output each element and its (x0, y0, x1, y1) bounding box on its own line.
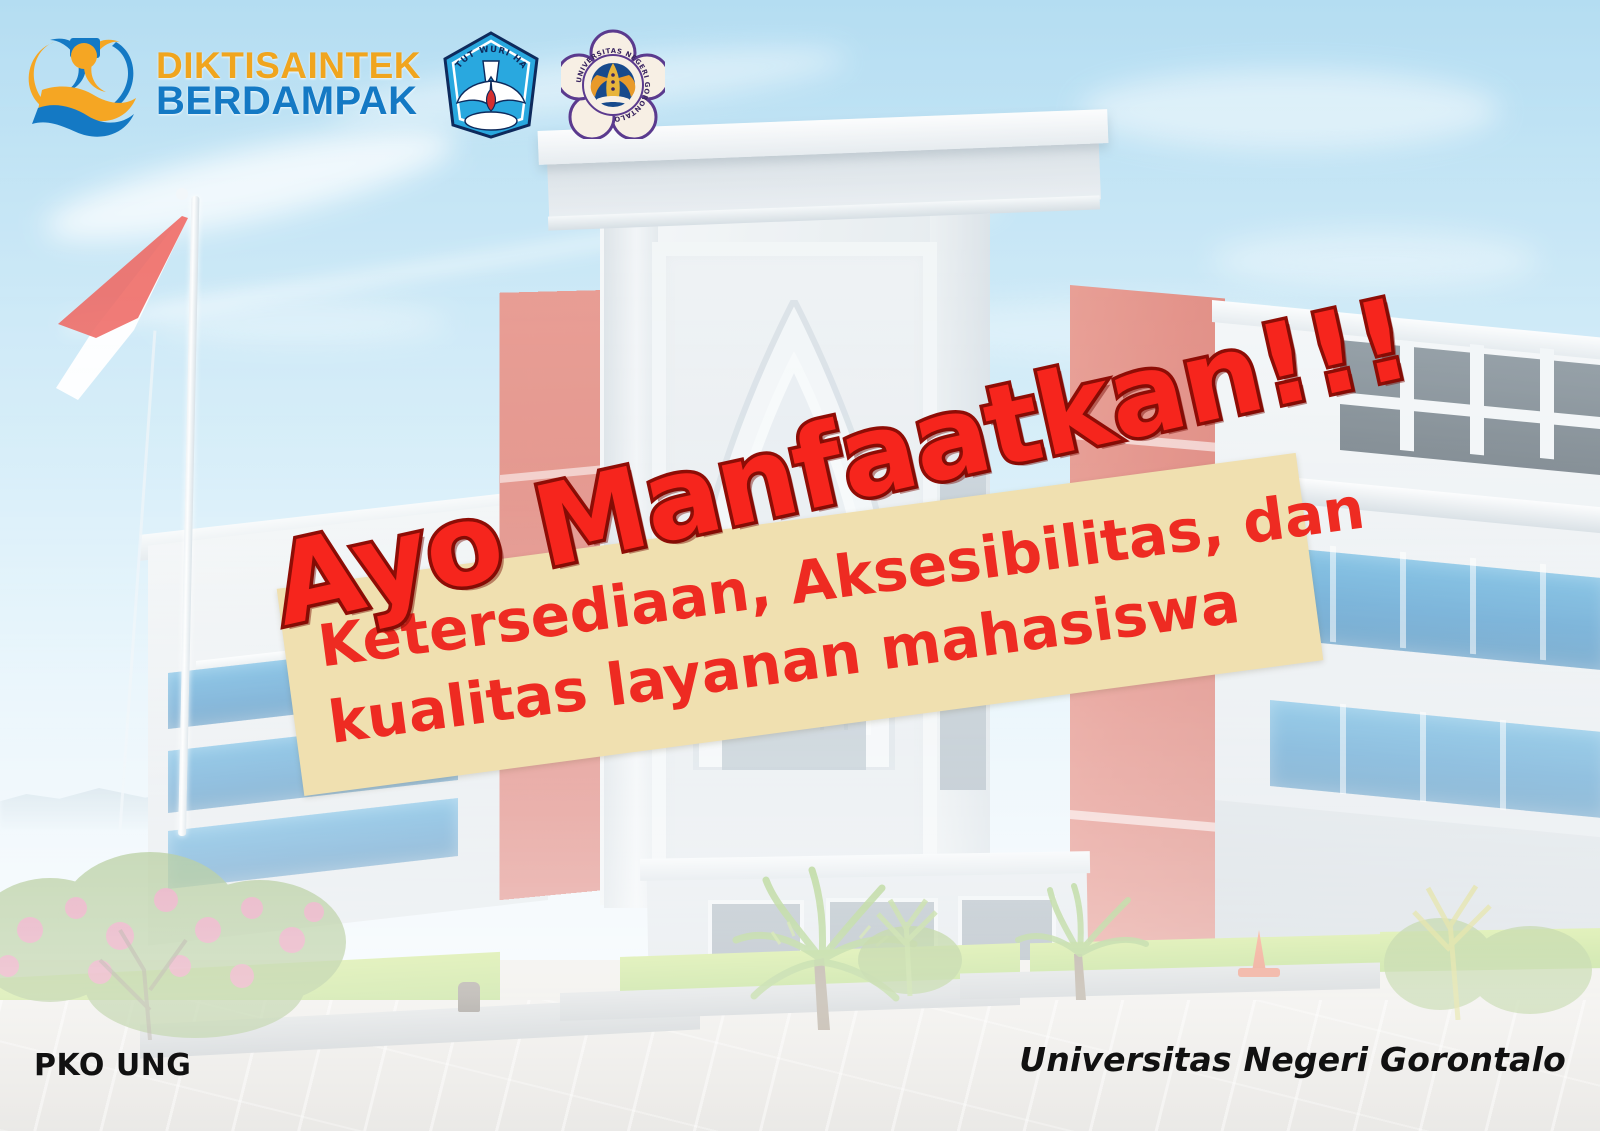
footer-right-label: Universitas Negeri Gorontalo (1019, 1040, 1566, 1079)
shrub (850, 888, 970, 998)
traffic-cone-base (1238, 968, 1280, 977)
frame-bar (1540, 348, 1554, 459)
frame-bar (1470, 344, 1484, 455)
window-mullion (1500, 720, 1506, 811)
window-mullion (1470, 558, 1476, 655)
diktisaintek-word-top: DIKTISAINTEK (156, 49, 421, 83)
window-mullion (1400, 552, 1406, 649)
poster-canvas: DIKTISAINTEK BERDAMPAK TUT WURI HANDAYAN… (0, 0, 1600, 1131)
universitas-negeri-gorontalo-emblem-icon: UNIVERSITAS NEGERI GORONTALO (561, 29, 665, 139)
bougainvillea-bush (0, 790, 380, 1040)
logo-row: DIKTISAINTEK BERDAMPAK TUT WURI HANDAYAN… (24, 24, 665, 144)
indonesian-flag (38, 212, 190, 402)
diktisaintek-word-bottom: BERDAMPAK (156, 83, 421, 120)
palm-tree (1010, 870, 1150, 1000)
footer-left-label: PKO UNG (34, 1048, 191, 1083)
window-mullion (1420, 712, 1426, 803)
window-mullion (1330, 546, 1336, 643)
window-mullion (1540, 564, 1546, 661)
bollard (458, 982, 480, 1012)
shrub (1380, 860, 1600, 1020)
open-book-monument (420, 790, 650, 970)
window-mullion (1340, 704, 1346, 795)
diktisaintek-wordmark: DIKTISAINTEK BERDAMPAK (156, 49, 421, 120)
flagpole-finial (176, 188, 188, 200)
diktisaintek-figure-icon (24, 24, 144, 144)
tut-wuri-handayani-emblem-icon: TUT WURI HANDAYANI (439, 29, 543, 139)
